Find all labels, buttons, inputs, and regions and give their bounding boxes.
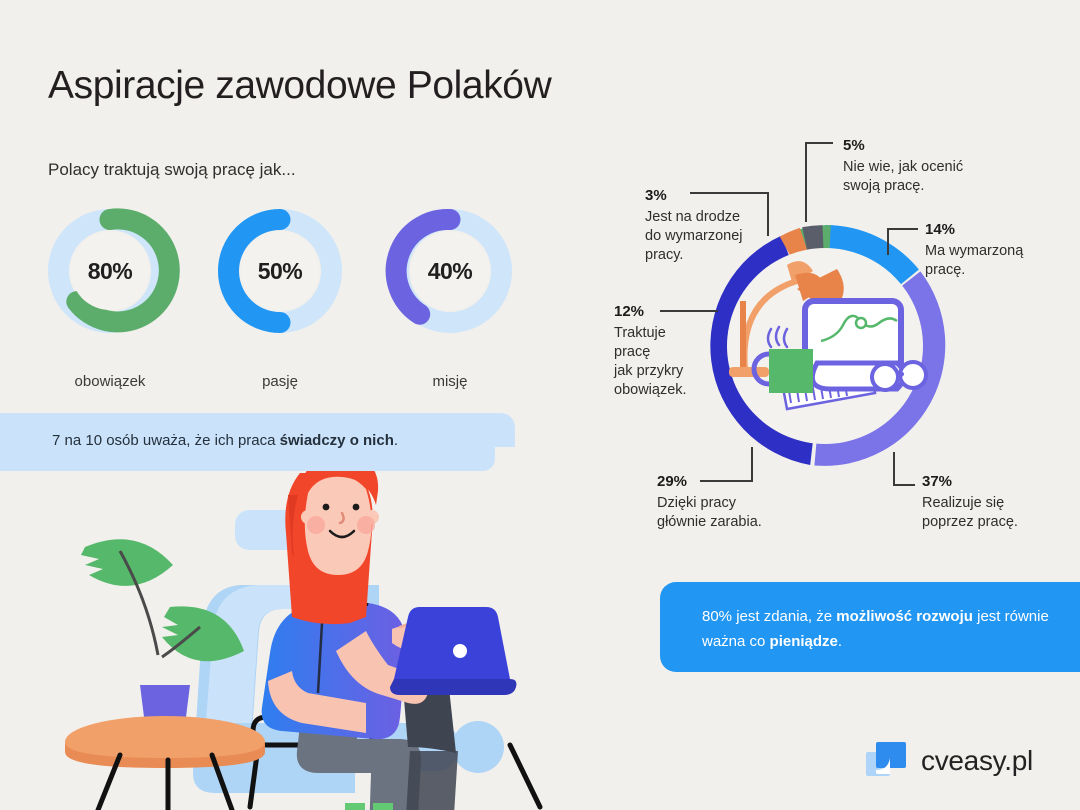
donut-label-12-line3: jak przykry (614, 363, 683, 379)
donut-label-5-line1: Nie wie, jak ocenić (843, 159, 963, 175)
logo-mark-icon (866, 740, 908, 782)
banner-text-after: . (394, 432, 398, 449)
banner-text-bold: świadczy o nich (280, 432, 394, 449)
donut-label-3-line1: Jest na drodze (645, 209, 740, 225)
banner-text: 7 na 10 osób uważa, że ich praca świadcz… (52, 432, 398, 449)
donut-label-3: 3% Jest na drodze do wymarzonej pracy. (645, 186, 785, 265)
donut-label-3-percent: 3% (645, 186, 785, 205)
donut-label-29-line1: Dzięki pracy (657, 495, 736, 511)
brand-logo[interactable]: cveasy.pl (866, 740, 1033, 782)
donut-label-12-percent: 12% (614, 302, 734, 321)
donut-label-29-percent: 29% (657, 472, 827, 491)
donut-label-14-line2: pracę. (925, 262, 965, 278)
donut-label-12-line2: pracę (614, 344, 650, 360)
infographic-canvas: Aspiracje zawodowe Polaków Polacy traktu… (0, 0, 1080, 810)
donut-label-37: 37% Realizuje się poprzez pracę. (922, 472, 1080, 532)
callout-text-bold: możliwość rozwoju (836, 608, 973, 625)
callout-text-before: 80% jest zdania, że (702, 608, 836, 625)
donut-label-12-line1: Traktuje (614, 325, 666, 341)
logo-text: cveasy.pl (921, 745, 1033, 777)
donut-label-5: 5% Nie wie, jak ocenić swoją pracę. (843, 136, 1023, 196)
banner-text-before: 7 na 10 osób uważa, że ich praca (52, 432, 280, 449)
donut-label-29: 29% Dzięki pracy głównie zarabia. (657, 472, 827, 532)
donut-label-5-percent: 5% (843, 136, 1023, 155)
donut-label-37-line2: poprzez pracę. (922, 514, 1018, 530)
callout-text-after: . (838, 633, 842, 650)
donut-label-29-line2: głównie zarabia. (657, 514, 762, 530)
donut-label-12-line4: obowiązek. (614, 382, 687, 398)
donut-label-14-line1: Ma wymarzoną (925, 243, 1023, 259)
donut-label-14-percent: 14% (925, 220, 1075, 239)
donut-label-14: 14% Ma wymarzoną pracę. (925, 220, 1075, 280)
donut-label-5-line2: swoją pracę. (843, 178, 924, 194)
label-leader-lines (0, 0, 1080, 810)
donut-label-3-line2: do wymarzonej (645, 228, 743, 244)
donut-label-37-percent: 37% (922, 472, 1080, 491)
donut-label-3-line3: pracy. (645, 247, 683, 263)
callout-text: 80% jest zdania, że możliwość rozwoju je… (702, 604, 1072, 654)
donut-label-12: 12% Traktuje pracę jak przykry obowiązek… (614, 302, 734, 400)
callout-text-bold2: pieniądze (770, 633, 838, 650)
donut-label-37-line1: Realizuje się (922, 495, 1004, 511)
